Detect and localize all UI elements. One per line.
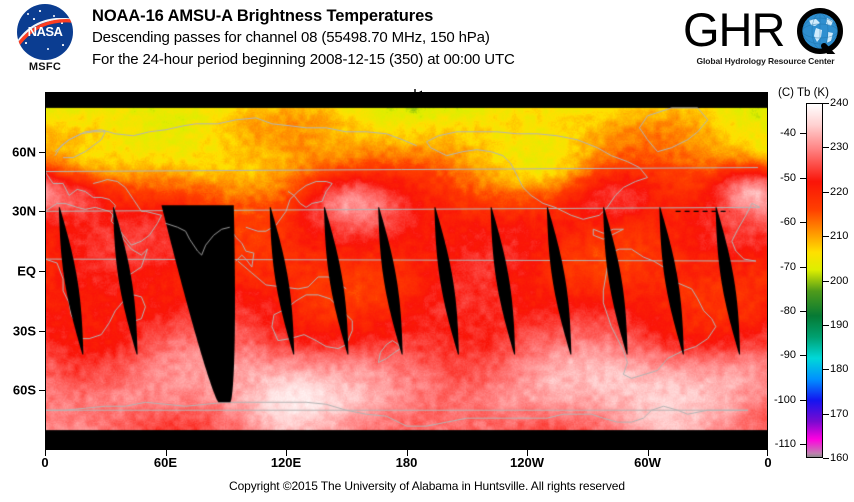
y-axis-label-30S: 30S: [0, 323, 36, 338]
nasa-wordmark: NASA: [17, 24, 73, 39]
x-axis-label-60E: 60E: [154, 455, 177, 470]
ghrc-wordmark-icon: GHR: [683, 6, 848, 54]
y-axis-tick: [39, 152, 45, 153]
y-axis-label-60N: 60N: [0, 144, 36, 159]
colorbar: [806, 103, 823, 458]
colorbar-label-230K: 230: [830, 141, 848, 153]
page-title: NOAA-16 AMSU-A Brightness Temperatures: [92, 6, 682, 27]
colorbar-tick-kelvin: [823, 236, 829, 237]
x-axis-label-0: 0: [764, 455, 771, 470]
title-subtitle-channel: Descending passes for channel 08 (55498.…: [92, 27, 682, 49]
colorbar-label--110C: -110: [772, 438, 796, 450]
colorbar-tick-kelvin: [823, 147, 829, 148]
colorbar-tick-celsius: [800, 222, 806, 223]
y-axis-tick: [39, 271, 45, 272]
y-axis-label-EQ: EQ: [0, 264, 36, 279]
visualization-root: NASA MSFC NOAA-16 AMSU-A Brightness Temp…: [0, 0, 854, 502]
copyright-notice: Copyright ©2015 The University of Alabam…: [0, 479, 854, 493]
colorbar-label--80C: -80: [772, 305, 796, 317]
colorbar-tick-celsius: [800, 311, 806, 312]
colorbar-label-200K: 200: [830, 275, 848, 287]
y-axis-label-30N: 30N: [0, 204, 36, 219]
colorbar-label-210K: 210: [830, 230, 848, 242]
colorbar-label--100C: -100: [772, 394, 796, 406]
nasa-center-label: MSFC: [8, 61, 82, 73]
colorbar-tick-kelvin: [823, 325, 829, 326]
colorbar-label-180K: 180: [830, 363, 848, 375]
colorbar-tick-celsius: [800, 355, 806, 356]
colorbar-tick-kelvin: [823, 192, 829, 193]
x-axis-label-0: 0: [41, 455, 48, 470]
colorbar-label--70C: -70: [772, 261, 796, 273]
colorbar-tick-kelvin: [823, 103, 829, 104]
title-subtitle-period: For the 24-hour period beginning 2008-12…: [92, 49, 682, 71]
colorbar-label-190K: 190: [830, 319, 848, 331]
title-block: NOAA-16 AMSU-A Brightness Temperatures D…: [92, 6, 682, 70]
colorbar-tick-kelvin: [823, 281, 829, 282]
colorbar-label-170K: 170: [830, 408, 848, 420]
colorbar-tick-kelvin: [823, 414, 829, 415]
svg-text:GHR: GHR: [683, 6, 784, 54]
y-axis-tick: [39, 331, 45, 332]
y-axis-tick: [39, 390, 45, 391]
colorbar-label-160K: 160: [830, 452, 848, 464]
colorbar-tick-celsius: [800, 133, 806, 134]
nasa-meatball-icon: NASA: [17, 4, 73, 60]
colorbar-tick-celsius: [800, 444, 806, 445]
colorbar-tick-celsius: [800, 178, 806, 179]
map-plot-area: [45, 92, 768, 450]
ghrc-subtitle: Global Hydrology Resource Center: [683, 56, 848, 66]
colorbar-label--60C: -60: [772, 216, 796, 228]
y-axis-label-60S: 60S: [0, 383, 36, 398]
colorbar-tick-kelvin: [823, 369, 829, 370]
x-axis-label-120E: 120E: [271, 455, 301, 470]
x-axis-label-60W: 60W: [634, 455, 661, 470]
colorbar-label-240K: 240: [830, 97, 848, 109]
colorbar-label--50C: -50: [772, 172, 796, 184]
colorbar-tick-kelvin: [823, 458, 829, 459]
brightness-temperature-map: [45, 92, 768, 450]
y-axis-tick: [39, 211, 45, 212]
colorbar-header: (C) Tb (K): [778, 87, 829, 99]
x-axis-label-120W: 120W: [510, 455, 544, 470]
colorbar-tick-celsius: [800, 400, 806, 401]
colorbar-label-220K: 220: [830, 186, 848, 198]
nasa-logo: NASA MSFC: [8, 4, 82, 60]
colorbar-label--90C: -90: [772, 349, 796, 361]
ghrc-logo: GHR Global Hydrology Resource Center: [683, 4, 848, 74]
colorbar-label--40C: -40: [772, 127, 796, 139]
x-axis-label-180: 180: [396, 455, 418, 470]
colorbar-tick-celsius: [800, 267, 806, 268]
swath-direction-marker-icon: [409, 88, 449, 100]
